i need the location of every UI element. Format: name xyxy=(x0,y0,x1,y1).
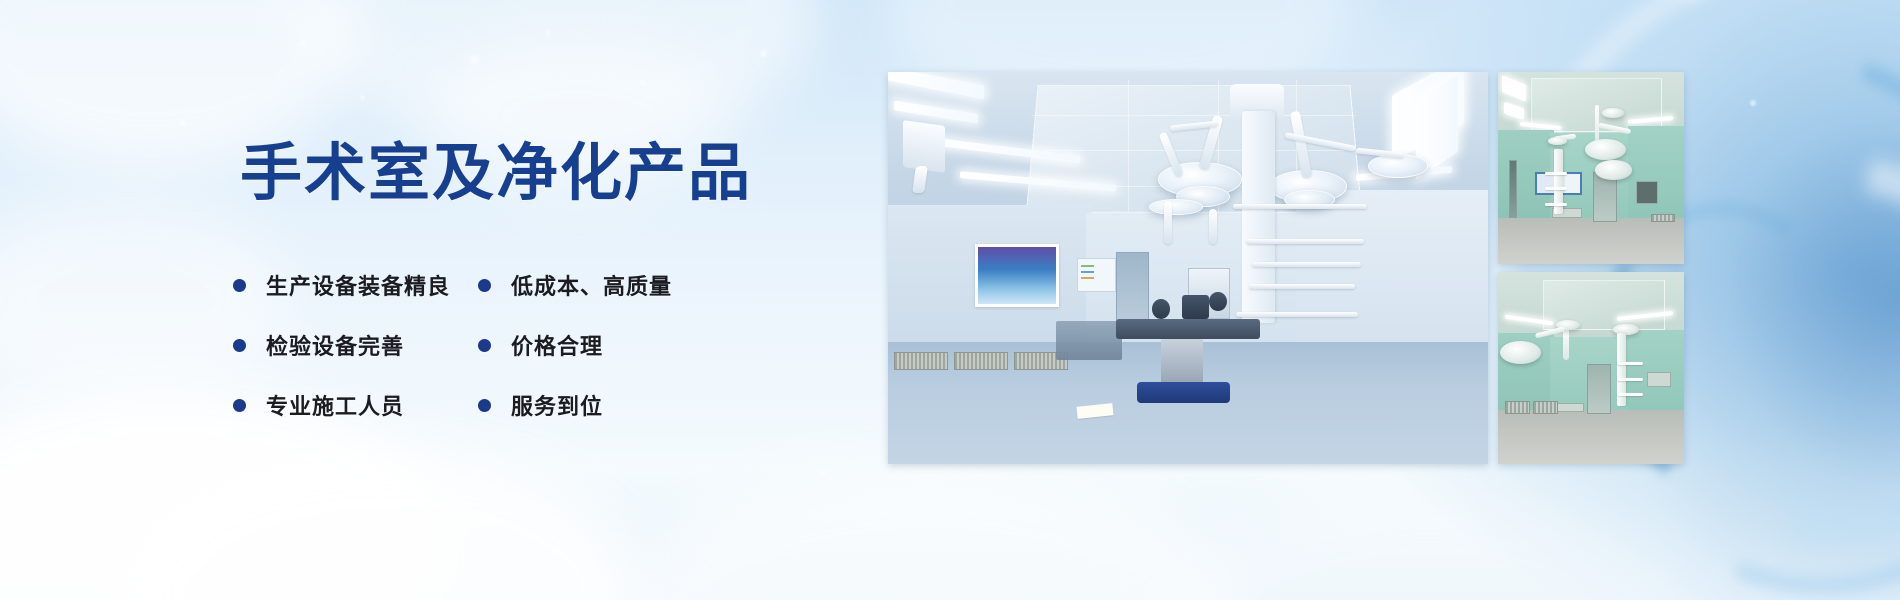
or-ceiling-grid-line xyxy=(1032,115,1356,116)
bullet-dot-icon xyxy=(233,339,246,352)
or-shelf xyxy=(1233,204,1367,209)
feature-list: 生产设备装备精良 低成本、高质量 检验设备完善 价格合理 专业施工人员 服务到位 xyxy=(233,270,753,420)
feature-label: 专业施工人员 xyxy=(266,389,404,421)
operating-room-scene xyxy=(888,72,1488,464)
mint-door xyxy=(1587,364,1611,414)
or-microscope-head xyxy=(1209,292,1227,312)
mint-shelf xyxy=(1617,378,1643,381)
mint-shelf xyxy=(1545,172,1567,175)
operating-room-main-photo[interactable] xyxy=(888,72,1488,464)
mint-surgical-light-1 xyxy=(1500,341,1541,364)
mint-vent xyxy=(1533,401,1557,414)
mint-vent xyxy=(1505,401,1529,414)
feature-item-5: 专业施工人员 xyxy=(233,390,478,420)
mint-lamp-mount xyxy=(1548,137,1567,145)
or-shelf xyxy=(1249,284,1355,289)
or-sky-ceiling-picture xyxy=(975,244,1059,307)
mint-door-frame xyxy=(1509,160,1516,218)
mint-shelf xyxy=(1617,393,1643,396)
mint-shelf xyxy=(1617,362,1643,365)
bullet-dot-icon xyxy=(478,279,491,292)
or-operating-table xyxy=(1116,319,1260,339)
or-surgical-light-4 xyxy=(1149,199,1203,215)
feature-item-6: 服务到位 xyxy=(478,390,723,420)
bullet-dot-icon xyxy=(478,339,491,352)
sparkle-dot xyxy=(1750,100,1756,106)
bullet-dot-icon xyxy=(233,399,246,412)
operating-room-thumb-2[interactable] xyxy=(1498,272,1684,464)
mint-wall-right xyxy=(1628,126,1684,226)
or-ceiling-camera xyxy=(903,120,945,173)
or-lamp-arm xyxy=(1164,201,1172,244)
mint-shelf xyxy=(1545,187,1567,190)
mint-wall-display xyxy=(1636,181,1658,204)
mint-wall-display xyxy=(1647,372,1671,387)
feature-item-3: 检验设备完善 xyxy=(233,330,478,360)
or-table-column xyxy=(1161,339,1203,386)
operating-room-thumb-1[interactable] xyxy=(1498,72,1684,264)
or-wall-vent xyxy=(954,352,1008,370)
or-wall-chart xyxy=(1077,258,1116,291)
or-wall-vent xyxy=(894,352,948,370)
bullet-dot-icon xyxy=(478,399,491,412)
feature-label: 检验设备完善 xyxy=(266,329,404,361)
feature-label: 低成本、高质量 xyxy=(511,269,672,301)
or-lamp-arm xyxy=(1209,209,1217,244)
mint-operating-room-scene-2 xyxy=(1498,272,1684,464)
bullet-dot-icon xyxy=(233,279,246,292)
mint-operating-room-scene-1 xyxy=(1498,72,1684,264)
mint-surgical-light-2 xyxy=(1595,160,1632,179)
page-title: 手术室及净化产品 xyxy=(240,143,752,205)
or-shelf xyxy=(1236,312,1358,317)
feature-label: 服务到位 xyxy=(511,389,603,421)
mint-info-board xyxy=(1561,172,1581,195)
or-transfer-trolley xyxy=(1056,321,1122,360)
or-shelf xyxy=(1252,262,1361,267)
promo-banner: 手术室及净化产品 生产设备装备精良 低成本、高质量 检验设备完善 价格合理 专业… xyxy=(0,0,1900,600)
feature-item-4: 价格合理 xyxy=(478,330,723,360)
or-door xyxy=(1116,252,1149,323)
mint-floor xyxy=(1498,218,1684,264)
or-microscope-arm xyxy=(1182,295,1209,319)
banner-content: 手术室及净化产品 生产设备装备精良 低成本、高质量 检验设备完善 价格合理 专业… xyxy=(0,0,900,600)
mint-floor xyxy=(1498,410,1684,464)
or-ceiling-grid-line xyxy=(1128,80,1129,213)
or-microscope-head xyxy=(1152,299,1170,319)
mint-vent xyxy=(1651,214,1675,222)
mint-socket-strip xyxy=(1556,403,1584,413)
feature-label: 生产设备装备精良 xyxy=(266,269,450,301)
feature-item-2: 低成本、高质量 xyxy=(478,270,723,300)
feature-label: 价格合理 xyxy=(511,329,603,361)
feature-item-1: 生产设备装备精良 xyxy=(233,270,478,300)
or-shelf xyxy=(1246,239,1365,244)
or-equipment-rack xyxy=(1230,201,1386,326)
or-table-base xyxy=(1137,382,1230,404)
mint-shelf xyxy=(1545,203,1567,206)
